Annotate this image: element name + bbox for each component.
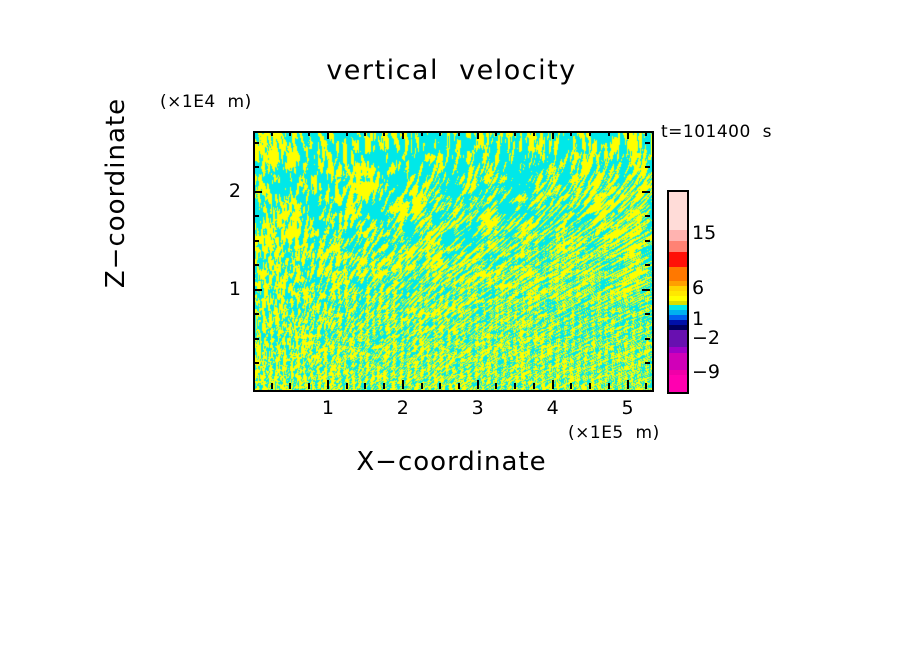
x-axis-minor-tick	[608, 383, 610, 389]
y-axis-minor-tick	[253, 264, 259, 266]
x-axis-minor-tick	[308, 383, 310, 389]
y-axis-tick	[642, 289, 650, 291]
y-axis-minor-tick	[645, 166, 650, 168]
x-axis-minor-tick	[570, 383, 572, 389]
colorbar-band	[669, 330, 687, 348]
x-axis-minor-tick	[608, 131, 610, 136]
x-axis-tick	[477, 380, 479, 389]
x-axis-minor-tick	[271, 131, 273, 136]
colorbar	[667, 190, 689, 394]
x-axis-tick	[627, 380, 629, 389]
colorbar-band	[669, 375, 687, 393]
x-axis-tick-label: 2	[383, 397, 423, 419]
y-axis-tick-label: 2	[201, 180, 241, 202]
x-axis-minor-tick	[645, 383, 647, 389]
x-axis-minor-tick	[533, 131, 535, 136]
timestamp-annotation: t=101400 s	[661, 122, 772, 142]
y-axis-minor-tick	[645, 362, 650, 364]
x-axis-minor-tick	[645, 131, 647, 136]
y-axis-minor-tick	[253, 166, 259, 168]
velocity-field-heatmap	[255, 133, 652, 390]
y-axis-tick-label: 1	[201, 278, 241, 300]
x-axis-minor-tick	[514, 131, 516, 136]
x-axis-tick	[327, 380, 329, 389]
y-axis-minor-tick	[645, 142, 650, 144]
x-axis-minor-tick	[458, 383, 460, 389]
x-axis-unit-label: (×1E5 m)	[568, 423, 660, 443]
y-axis-tick	[253, 289, 262, 291]
x-axis-tick-label: 3	[458, 397, 498, 419]
x-axis-minor-tick	[308, 131, 310, 136]
x-axis-tick	[552, 131, 554, 139]
y-axis-minor-tick	[645, 313, 650, 315]
y-axis-minor-tick	[645, 215, 650, 217]
x-axis-minor-tick	[495, 131, 497, 136]
x-axis-minor-tick	[289, 383, 291, 389]
x-axis-minor-tick	[289, 131, 291, 136]
y-axis-tick	[253, 191, 262, 193]
y-axis-minor-tick	[253, 313, 259, 315]
x-axis-minor-tick	[589, 383, 591, 389]
y-axis-minor-tick	[253, 362, 259, 364]
plot-area	[253, 131, 654, 392]
y-axis-minor-tick	[253, 338, 259, 340]
x-axis-minor-tick	[439, 383, 441, 389]
x-axis-tick	[327, 131, 329, 139]
x-axis-minor-tick	[514, 383, 516, 389]
figure-canvas: vertical velocity (×1E4 m) t=101400 s Z−…	[0, 0, 904, 654]
colorbar-tick-label: 6	[692, 277, 704, 299]
y-axis-unit-label: (×1E4 m)	[160, 92, 252, 112]
colorbar-tick-label: −9	[692, 361, 720, 383]
colorbar-band	[669, 353, 687, 369]
x-axis-tick-label: 1	[308, 397, 348, 419]
x-axis-minor-tick	[495, 383, 497, 389]
x-axis-title: X−coordinate	[253, 447, 650, 477]
x-axis-minor-tick	[458, 131, 460, 136]
y-axis-tick	[642, 191, 650, 193]
x-axis-tick	[402, 380, 404, 389]
x-axis-minor-tick	[364, 383, 366, 389]
x-axis-minor-tick	[439, 131, 441, 136]
x-axis-minor-tick	[364, 131, 366, 136]
colorbar-tick-label: −2	[692, 327, 720, 349]
y-axis-minor-tick	[253, 142, 259, 144]
x-axis-minor-tick	[421, 131, 423, 136]
y-axis-minor-tick	[645, 338, 650, 340]
x-axis-tick-label: 4	[533, 397, 573, 419]
page-title: vertical velocity	[253, 56, 650, 86]
colorbar-band	[669, 192, 687, 230]
x-axis-minor-tick	[346, 131, 348, 136]
y-axis-minor-tick	[645, 240, 650, 242]
x-axis-minor-tick	[346, 383, 348, 389]
colorbar-band	[669, 252, 687, 267]
x-axis-minor-tick	[570, 131, 572, 136]
y-axis-minor-tick	[253, 240, 259, 242]
x-axis-minor-tick	[421, 383, 423, 389]
y-axis-minor-tick	[253, 215, 259, 217]
colorbar-band	[669, 230, 687, 241]
x-axis-tick	[627, 131, 629, 139]
x-axis-minor-tick	[271, 383, 273, 389]
colorbar-band	[669, 267, 687, 281]
y-axis-minor-tick	[645, 264, 650, 266]
y-axis-title: Z−coordinate	[101, 63, 131, 323]
x-axis-tick-label: 5	[608, 397, 648, 419]
x-axis-minor-tick	[533, 383, 535, 389]
x-axis-tick	[477, 131, 479, 139]
x-axis-minor-tick	[383, 131, 385, 136]
colorbar-band	[669, 241, 687, 252]
x-axis-minor-tick	[383, 383, 385, 389]
colorbar-tick-label: 15	[692, 222, 716, 244]
x-axis-minor-tick	[589, 131, 591, 136]
x-axis-tick	[402, 131, 404, 139]
x-axis-tick	[552, 380, 554, 389]
